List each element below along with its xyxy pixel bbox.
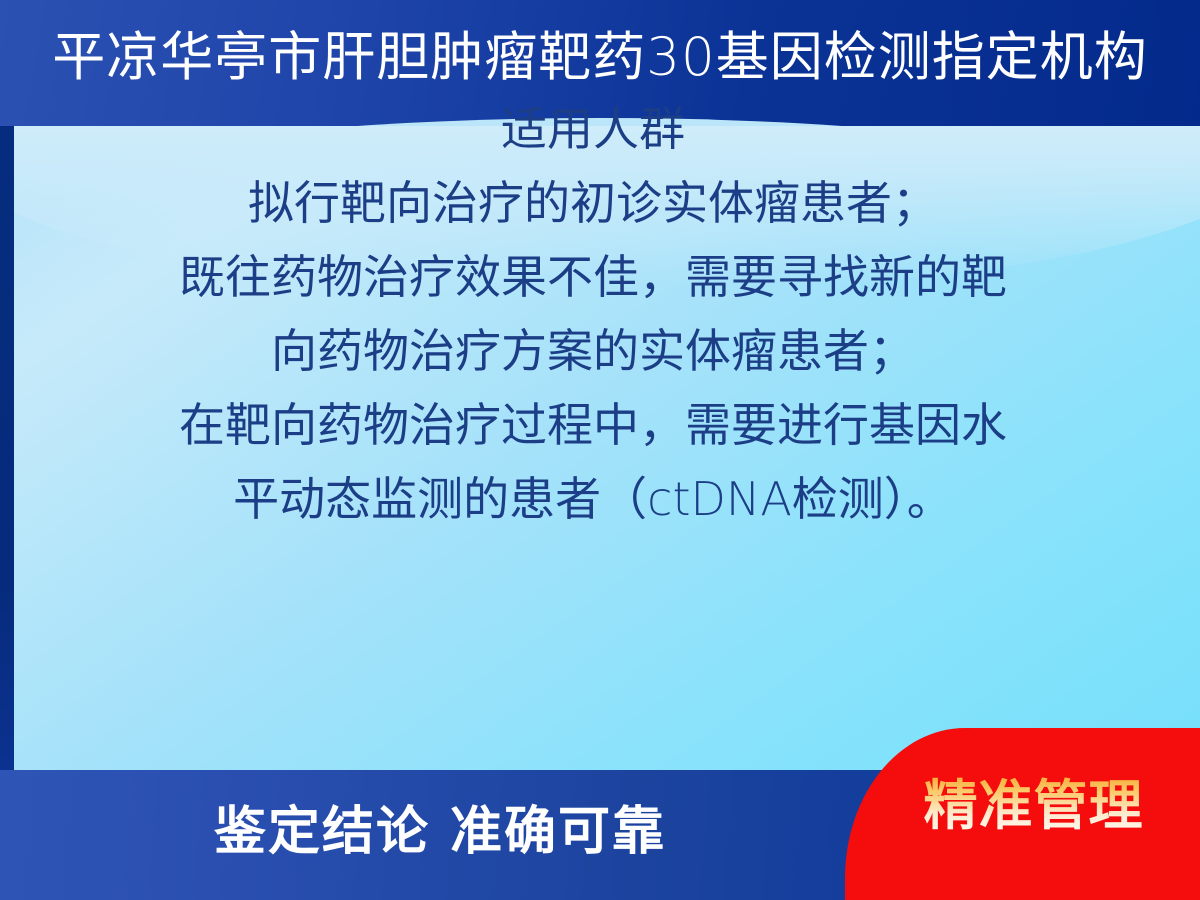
poster-canvas: 平凉华亭市肝胆肿瘤靶药30基因检测指定机构 适用人群 拟行靶向治疗的初诊实体瘤患… [0, 0, 1200, 900]
body-line-1: 拟行靶向治疗的初诊实体瘤患者； [0, 166, 1186, 240]
eligibility-text-block: 适用人群 拟行靶向治疗的初诊实体瘤患者； 既往药物治疗效果不佳，需要寻找新的靶 … [0, 92, 1186, 536]
page-title: 平凉华亭市肝胆肿瘤靶药30基因检测指定机构 [0, 26, 1200, 90]
body-line-heading: 适用人群 [0, 92, 1186, 166]
body-line-4: 在靶向药物治疗过程中，需要进行基因水 [0, 388, 1186, 462]
body-line-3: 向药物治疗方案的实体瘤患者； [0, 314, 1186, 388]
precision-management-badge: 精准管理 [845, 728, 1200, 900]
body-line-2: 既往药物治疗效果不佳，需要寻找新的靶 [0, 240, 1186, 314]
footer-tagline: 鉴定结论 准确可靠 [40, 798, 840, 866]
badge-label: 精准管理 [845, 772, 1200, 840]
left-accent-rail [0, 126, 14, 774]
body-line-5: 平动态监测的患者（ctDNA检测）。 [0, 462, 1186, 536]
